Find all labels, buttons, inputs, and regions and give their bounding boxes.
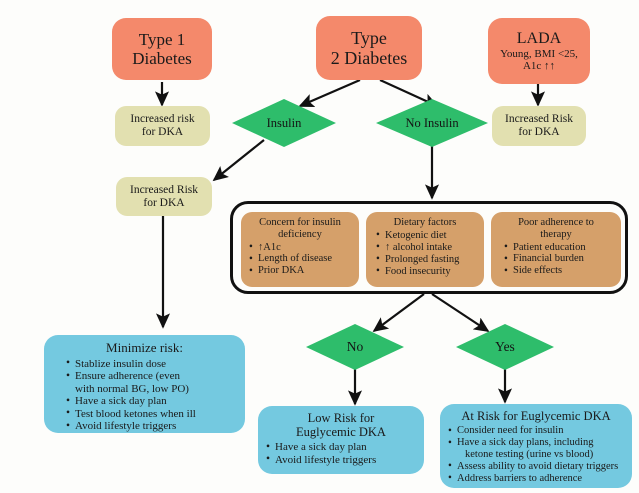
- factor-adherence-title-1: Poor adherence to: [491, 217, 621, 229]
- decision-no[interactable]: No: [306, 324, 404, 370]
- list-item-continuation: ketone testing (urine vs blood): [448, 449, 632, 461]
- lada-detail-line-2: A1c ↑↑: [488, 60, 590, 72]
- node-lada[interactable]: LADA Young, BMI <25, A1c ↑↑: [488, 18, 590, 84]
- insulin-risk-line-1: Increased Risk: [116, 184, 212, 197]
- at-risk-list: Consider need for insulin Have a sick da…: [440, 425, 632, 485]
- factor-card-insulin-deficiency[interactable]: Concern for insulin deficiency ↑A1c Leng…: [241, 212, 359, 287]
- factor-concern-list: ↑A1c Length of disease Prior DKA: [241, 242, 359, 278]
- factor-card-poor-adherence[interactable]: Poor adherence to therapy Patient educat…: [491, 212, 621, 287]
- list-item: Patient education: [504, 242, 621, 254]
- low-risk-title-2: Euglycemic DKA: [258, 425, 424, 439]
- factor-concern-title-2: deficiency: [241, 229, 359, 241]
- list-item: Have a sick day plan: [266, 441, 424, 454]
- t1-risk-line-1: Increased risk: [115, 113, 210, 126]
- decision-yes-label: Yes: [456, 324, 554, 370]
- lada-label: LADA: [488, 30, 590, 48]
- list-item: Ketogenic diet: [376, 230, 484, 242]
- list-item: Prior DKA: [249, 265, 359, 277]
- decision-insulin-label: Insulin: [232, 99, 336, 147]
- lada-risk-line-1: Increased Risk: [492, 113, 586, 126]
- list-item: Have a sick day plans, including: [448, 437, 632, 449]
- node-type1-increased-risk[interactable]: Increased risk for DKA: [115, 106, 210, 146]
- minimize-risk-title: Minimize risk:: [44, 341, 245, 356]
- node-at-risk-euglycemic-dka[interactable]: At Risk for Euglycemic DKA Consider need…: [440, 404, 632, 488]
- node-type-1-diabetes[interactable]: Type 1 Diabetes: [112, 18, 212, 80]
- node-minimize-risk[interactable]: Minimize risk: Stablize insulin dose Ens…: [44, 335, 245, 433]
- list-item-continuation: with normal BG, low PO): [66, 383, 245, 396]
- decision-yes[interactable]: Yes: [456, 324, 554, 370]
- low-risk-title-1: Low Risk for: [258, 411, 424, 425]
- type-1-label-line-2: Diabetes: [112, 49, 212, 68]
- decision-insulin[interactable]: Insulin: [232, 99, 336, 147]
- list-item: Consider need for insulin: [448, 425, 632, 437]
- factor-dietary-title-1: Dietary factors: [366, 217, 484, 229]
- node-type-2-diabetes[interactable]: Type 2 Diabetes: [316, 16, 422, 80]
- minimize-risk-list: Stablize insulin dose Ensure adherence (…: [44, 358, 245, 433]
- node-lada-increased-risk[interactable]: Increased Risk for DKA: [492, 106, 586, 146]
- list-item: Ensure adherence (even: [66, 370, 245, 383]
- list-item: ↑A1c: [249, 242, 359, 254]
- type-1-label-line-1: Type 1: [112, 30, 212, 49]
- at-risk-title: At Risk for Euglycemic DKA: [440, 409, 632, 423]
- decision-no-insulin-label: No Insulin: [376, 99, 488, 147]
- list-item: Financial burden: [504, 253, 621, 265]
- low-risk-list: Have a sick day plan Avoid lifestyle tri…: [258, 441, 424, 466]
- list-item: Have a sick day plan: [66, 395, 245, 408]
- t1-risk-line-2: for DKA: [115, 126, 210, 139]
- type-2-label-line-2: 2 Diabetes: [316, 48, 422, 68]
- factor-dietary-list: Ketogenic diet ↑ alcohol intake Prolonge…: [366, 230, 484, 278]
- node-insulin-increased-risk[interactable]: Increased Risk for DKA: [116, 177, 212, 216]
- list-item: Avoid lifestyle triggers: [66, 420, 245, 433]
- factor-concern-title-1: Concern for insulin: [241, 217, 359, 229]
- lada-risk-line-2: for DKA: [492, 126, 586, 139]
- list-item: Side effects: [504, 265, 621, 277]
- decision-no-label: No: [306, 324, 404, 370]
- list-item: Address barriers to adherence: [448, 473, 632, 485]
- lada-detail-line-1: Young, BMI <25,: [488, 48, 590, 60]
- list-item: Assess ability to avoid dietary triggers: [448, 461, 632, 473]
- insulin-risk-line-2: for DKA: [116, 197, 212, 210]
- list-item: ↑ alcohol intake: [376, 242, 484, 254]
- flowchart-canvas: Type 1 Diabetes Type 2 Diabetes LADA You…: [0, 0, 639, 493]
- factor-adherence-title-2: therapy: [491, 229, 621, 241]
- type-2-label-line-1: Type: [316, 28, 422, 48]
- list-item: Avoid lifestyle triggers: [266, 454, 424, 467]
- decision-no-insulin[interactable]: No Insulin: [376, 99, 488, 147]
- list-item: Prolonged fasting: [376, 254, 484, 266]
- list-item: Length of disease: [249, 253, 359, 265]
- list-item: Test blood ketones when ill: [66, 408, 245, 421]
- factor-card-dietary-factors[interactable]: Dietary factors Ketogenic diet ↑ alcohol…: [366, 212, 484, 287]
- node-low-risk-euglycemic-dka[interactable]: Low Risk for Euglycemic DKA Have a sick …: [258, 406, 424, 474]
- risk-factor-group: Concern for insulin deficiency ↑A1c Leng…: [230, 201, 628, 294]
- list-item: Stablize insulin dose: [66, 358, 245, 371]
- factor-adherence-list: Patient education Financial burden Side …: [491, 242, 621, 278]
- list-item: Food insecurity: [376, 266, 484, 278]
